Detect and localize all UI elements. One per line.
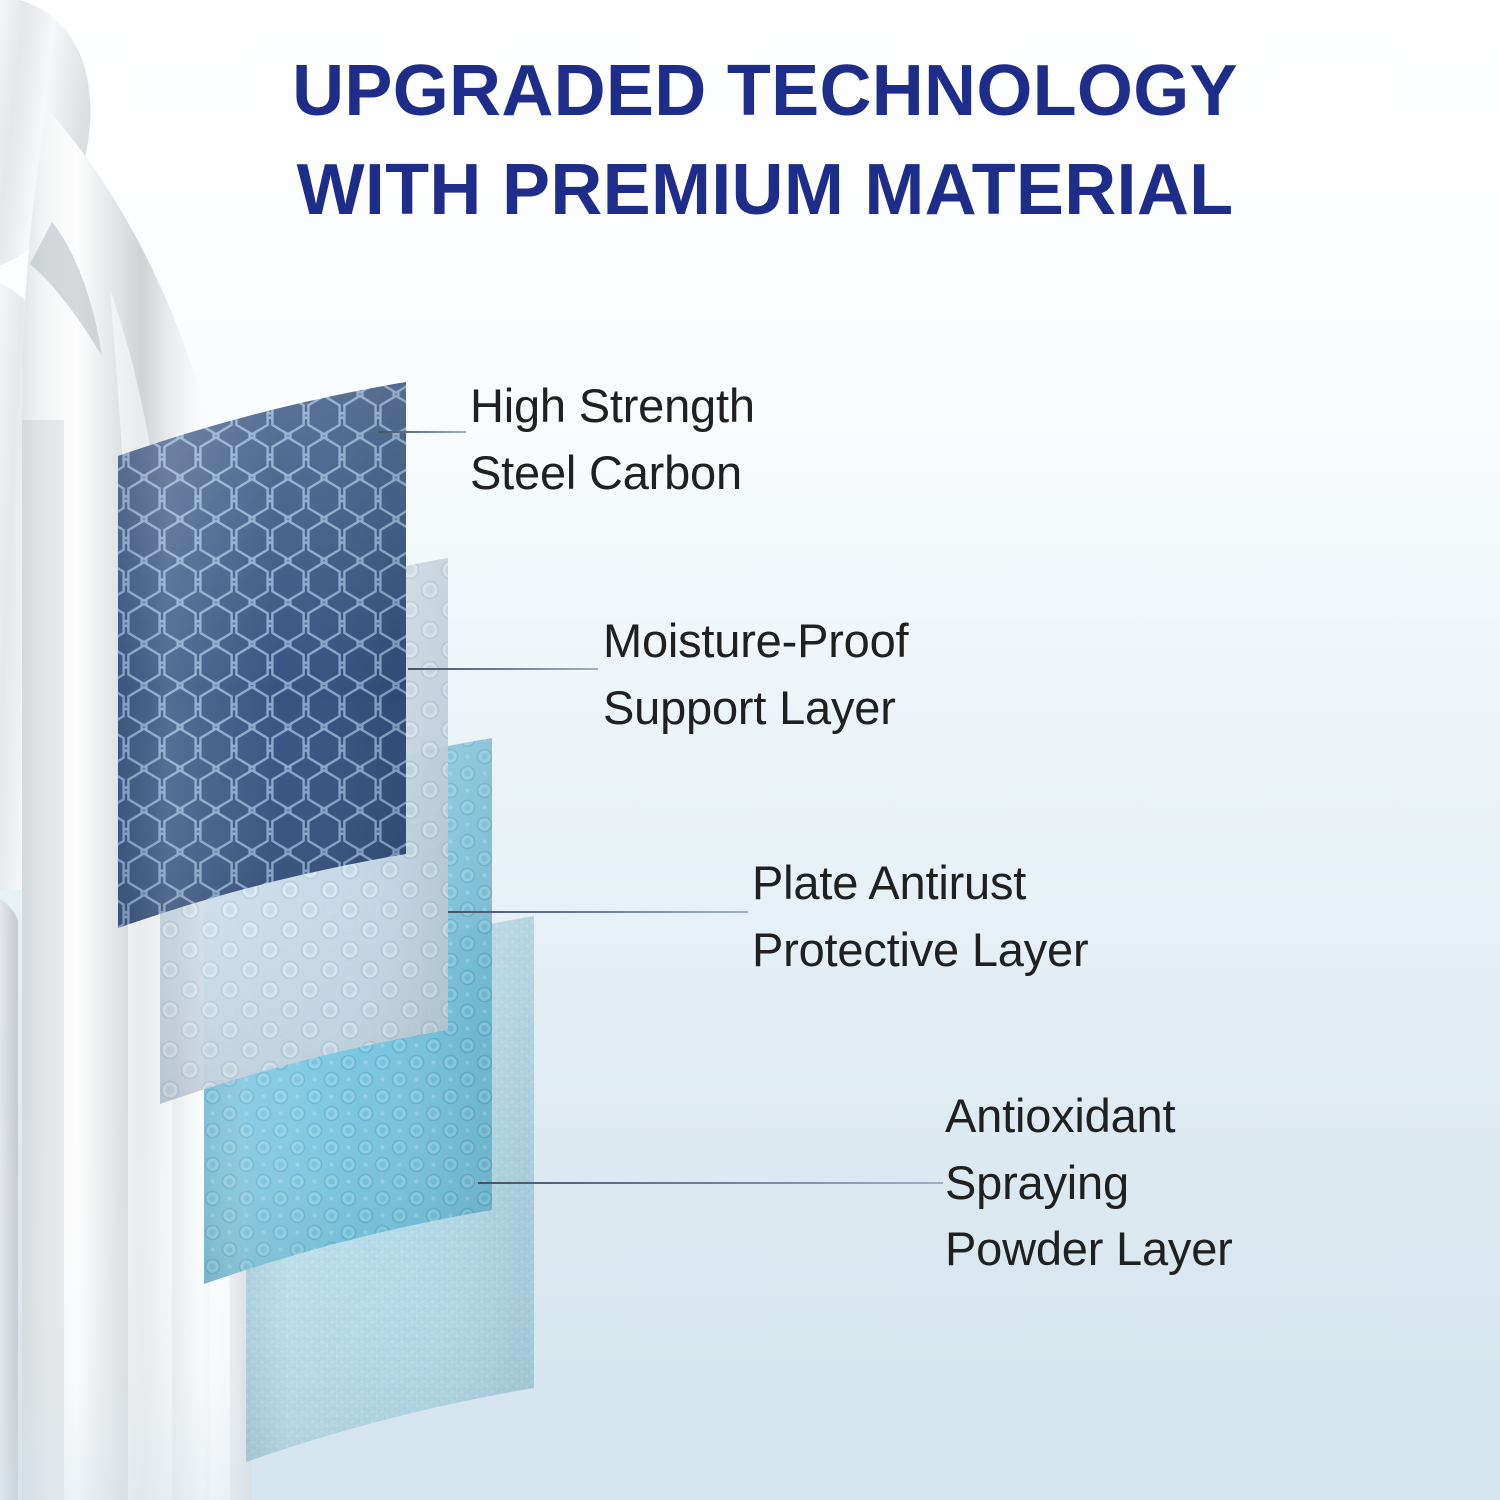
leader-line-2 (408, 668, 598, 670)
infographic-canvas: UPGRADED TECHNOLOGY WITH PREMIUM MATERIA… (0, 0, 1500, 1500)
callout-label-plate-antirust-protective-layer: Plate Antirust Protective Layer (752, 850, 1088, 983)
leader-line-3 (448, 911, 748, 913)
page-title: UPGRADED TECHNOLOGY WITH PREMIUM MATERIA… (120, 42, 1410, 241)
title-line-2: WITH PREMIUM MATERIAL (120, 141, 1410, 240)
callout-label-high-strength-steel-carbon: High Strength Steel Carbon (470, 373, 755, 506)
leader-line-1 (378, 431, 466, 433)
leader-line-4 (478, 1182, 943, 1184)
title-line-1: UPGRADED TECHNOLOGY (120, 42, 1410, 141)
callout-label-moisture-proof-support-layer: Moisture-Proof Support Layer (603, 608, 908, 741)
callout-label-antioxidant-spraying-powder-layer: Antioxidant Spraying Powder Layer (945, 1083, 1233, 1283)
